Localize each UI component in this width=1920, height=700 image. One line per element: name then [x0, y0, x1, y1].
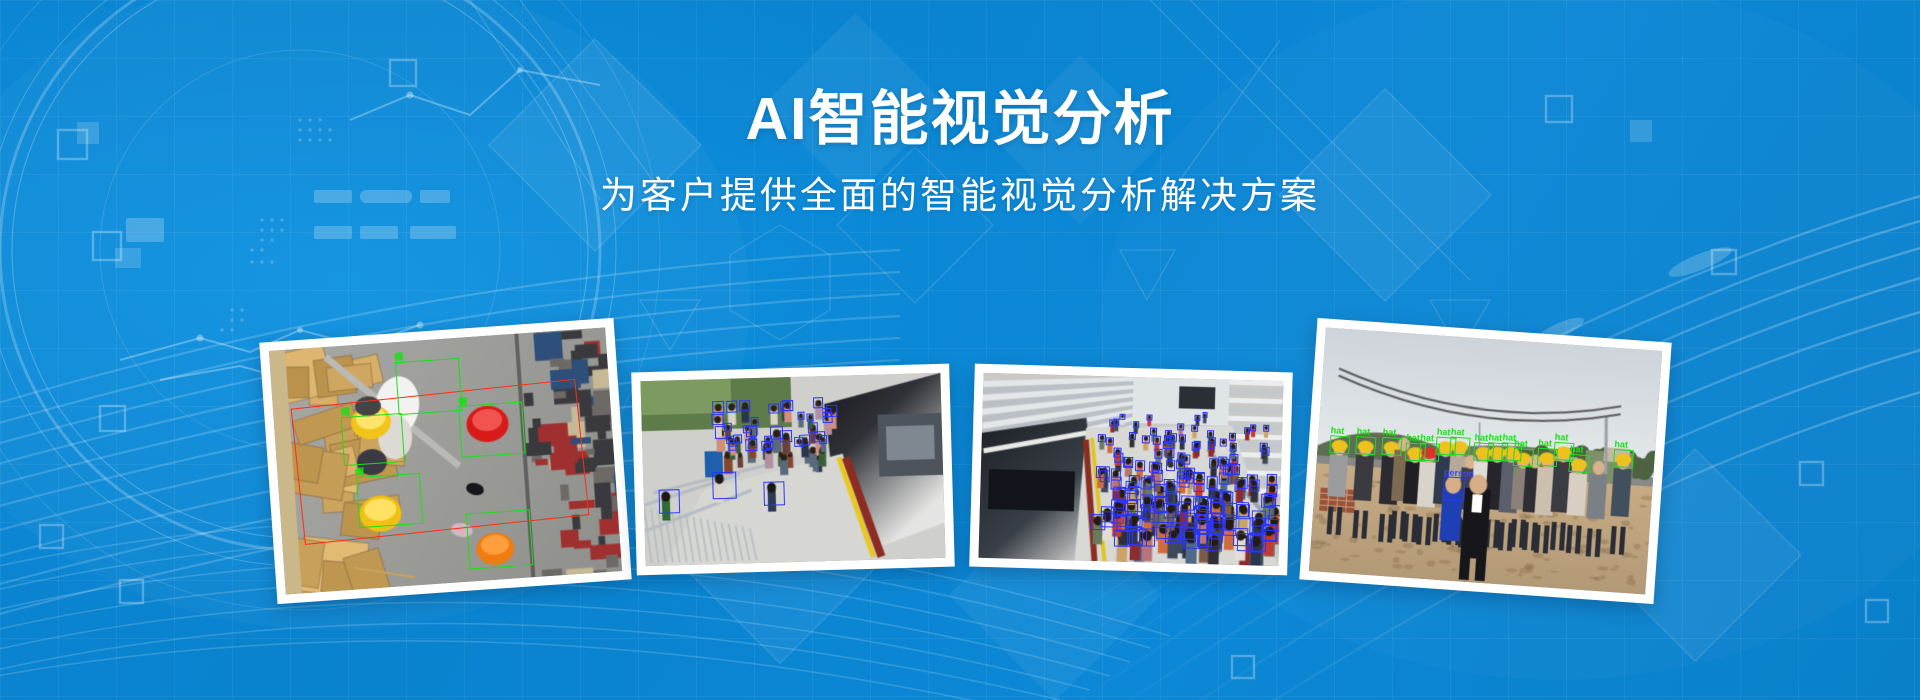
detection-box-helmet	[355, 473, 422, 529]
gallery-photo-hat-detection[interactable]: hathathathathathathathathathathathathath…	[1299, 318, 1671, 604]
detection-label: 帽	[340, 408, 350, 418]
detection-label: 帽	[394, 353, 404, 363]
hero-text-block: AI智能视觉分析 为客户提供全面的智能视觉分析解决方案	[0, 88, 1920, 218]
detection-label: 帽	[458, 397, 468, 407]
page-title: AI智能视觉分析	[0, 88, 1920, 152]
detection-overlay	[640, 373, 945, 566]
detection-overlay	[978, 373, 1283, 566]
photo-inner	[978, 373, 1283, 566]
gallery-photo-station-crowd[interactable]	[969, 364, 1293, 576]
gallery-photo-platform-headcount[interactable]	[631, 364, 955, 576]
detection-box-helmet	[466, 509, 534, 569]
gallery-photo-helmet-detection[interactable]: 帽 帽 帽 帽	[259, 318, 631, 604]
photo-inner: 帽 帽 帽 帽	[269, 328, 622, 595]
photo-inner	[640, 373, 945, 566]
hero-banner: AI智能视觉分析 为客户提供全面的智能视觉分析解决方案 帽 帽 帽 帽	[0, 0, 1920, 700]
detection-box-helmet	[395, 357, 463, 415]
detection-overlay: hathathathathathathathathathathathathath…	[1309, 328, 1662, 595]
detection-box-helmet	[341, 413, 405, 466]
page-subtitle: 为客户提供全面的智能视觉分析解决方案	[0, 174, 1920, 218]
detection-overlay: 帽 帽 帽 帽	[269, 328, 622, 595]
photo-inner: hathathathathathathathathathathathathath…	[1309, 328, 1662, 595]
detection-box-helmet	[459, 402, 526, 458]
detection-label: 帽	[355, 468, 365, 478]
